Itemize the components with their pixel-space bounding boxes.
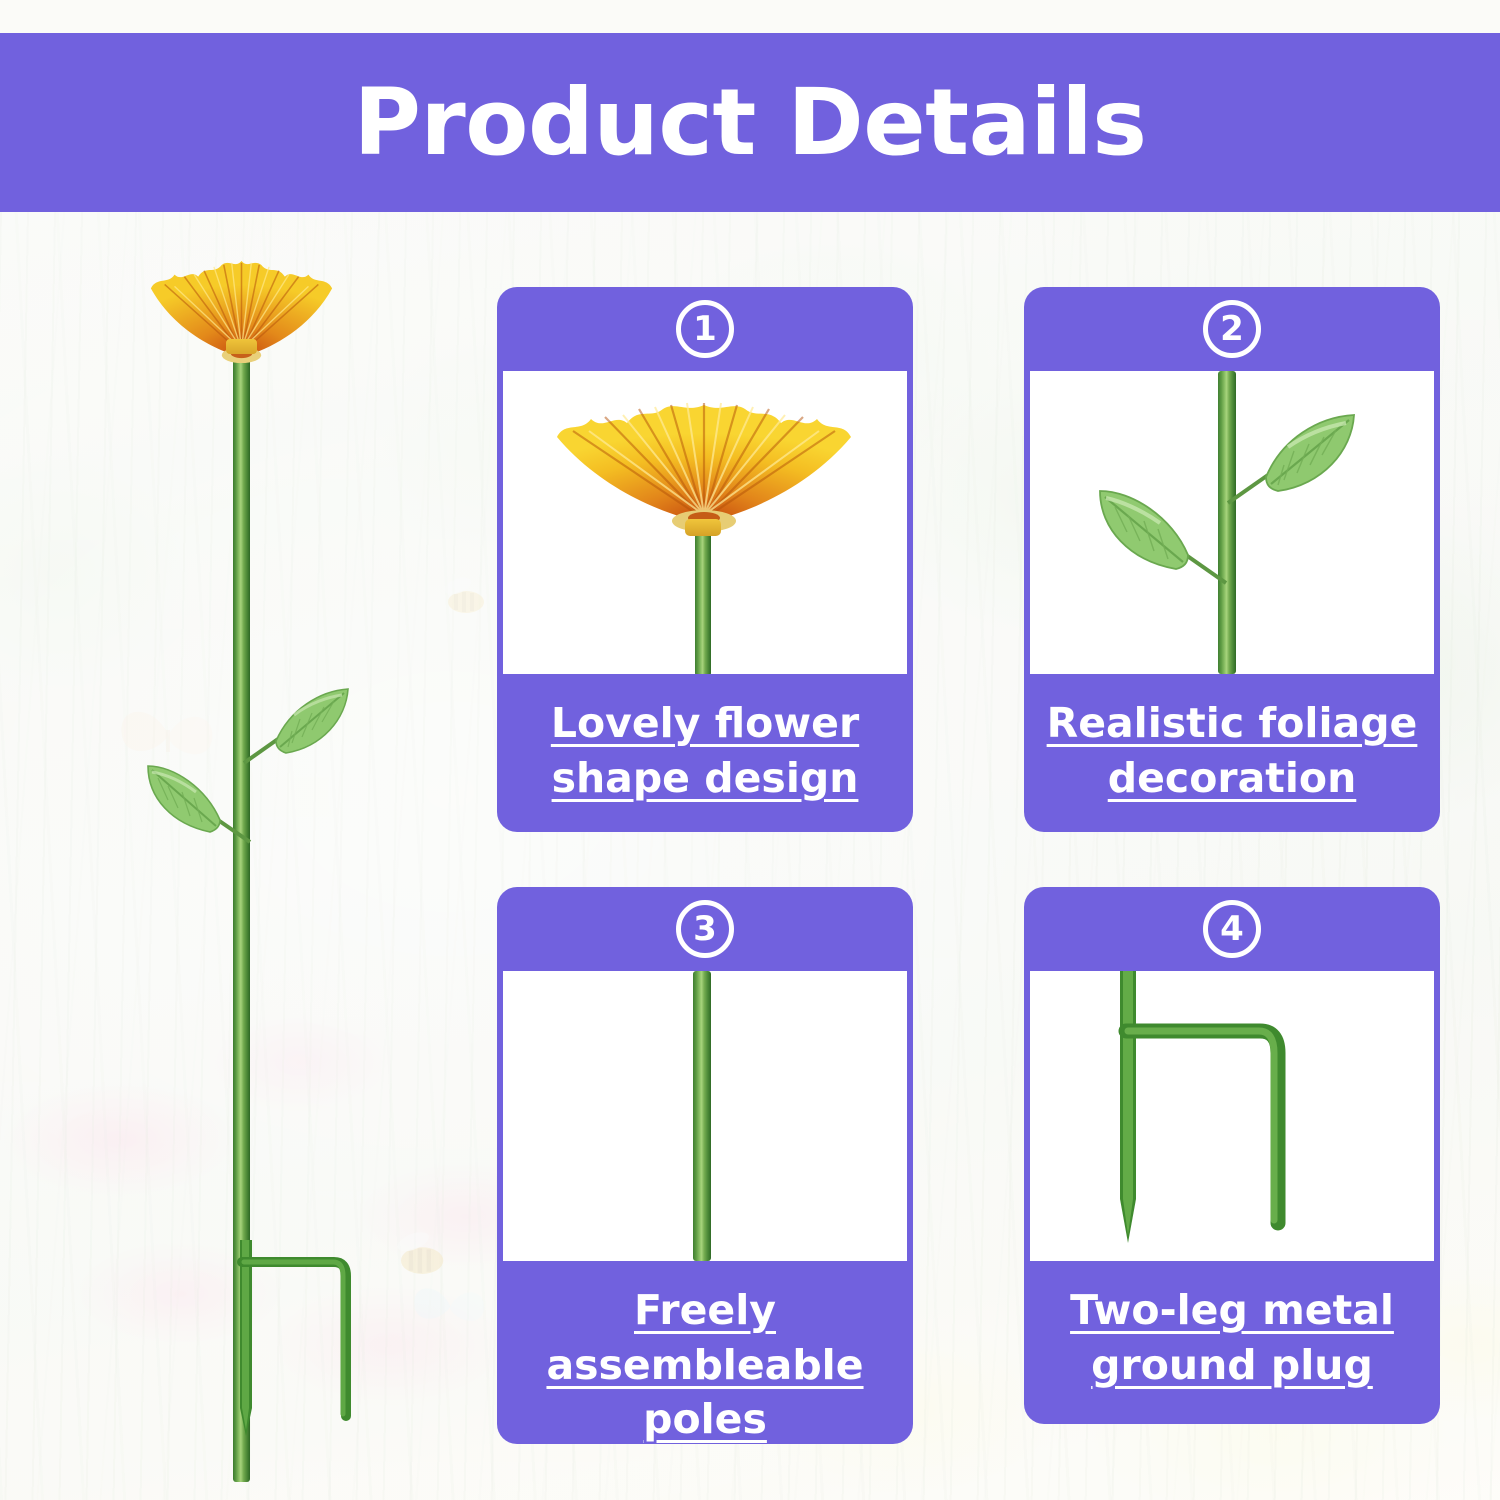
card-2-caption: Realistic foliage decoration: [1024, 674, 1440, 831]
card-4-caption-line-2: ground plug: [1091, 1341, 1373, 1389]
card-1-number-bar: 1: [497, 287, 913, 371]
page-title: Product Details: [353, 77, 1146, 169]
card-2-caption-line-2: decoration: [1108, 754, 1357, 802]
card-4-caption-line-1: Two-leg metal: [1070, 1286, 1394, 1334]
card-4-number-badge: 4: [1203, 900, 1261, 958]
product-flower-collar: [226, 339, 257, 354]
product-leaf-lower-left-icon: [144, 750, 252, 846]
card-1-caption: Lovely flower shape design: [497, 674, 913, 831]
card-3-pole: [693, 971, 711, 1261]
card-4-ground-plug-icon: [1098, 971, 1328, 1261]
card-2-leaf-lower-left-icon: [1096, 471, 1228, 587]
card-2-leaf-upper-right-icon: [1226, 399, 1358, 507]
card-3-caption: Freely assembleable poles: [497, 1261, 913, 1444]
card-1-number-badge: 1: [676, 300, 734, 358]
product-ground-plug-icon: [222, 1240, 382, 1450]
card-2-number-badge: 2: [1203, 300, 1261, 358]
card-1-flower-collar: [685, 519, 721, 536]
card-2-photo: [1030, 371, 1434, 674]
card-3-caption-line-1: Freely: [634, 1286, 776, 1334]
card-4-photo: [1030, 971, 1434, 1261]
card-3-number-badge: 3: [676, 900, 734, 958]
card-2-caption-line-1: Realistic foliage: [1047, 699, 1418, 747]
card-4-caption: Two-leg metal ground plug: [1024, 1261, 1440, 1418]
card-3-number-bar: 3: [497, 887, 913, 971]
card-1-flower-head-icon: [547, 401, 861, 533]
header-banner: Product Details: [0, 33, 1500, 212]
card-1-caption-line-2: shape design: [552, 754, 859, 802]
feature-card-3[interactable]: 3 Freely assembleable poles: [497, 887, 913, 1444]
card-4-number-bar: 4: [1024, 887, 1440, 971]
feature-card-1[interactable]: 1: [497, 287, 913, 832]
infographic-stage: Product Details: [0, 0, 1500, 1500]
card-1-caption-line-1: Lovely flower: [551, 699, 859, 747]
card-2-number-bar: 2: [1024, 287, 1440, 371]
main-product-image: [130, 255, 460, 1445]
product-leaf-upper-right-icon: [242, 675, 352, 767]
feature-card-2[interactable]: 2: [1024, 287, 1440, 832]
card-3-caption-line-2: assembleable: [546, 1341, 863, 1389]
card-1-pole: [695, 531, 711, 674]
feature-card-4[interactable]: 4 Two-leg metal ground plug: [1024, 887, 1440, 1424]
card-1-photo: [503, 371, 907, 674]
card-3-photo: [503, 971, 907, 1261]
card-3-caption-line-3: poles: [643, 1395, 767, 1443]
